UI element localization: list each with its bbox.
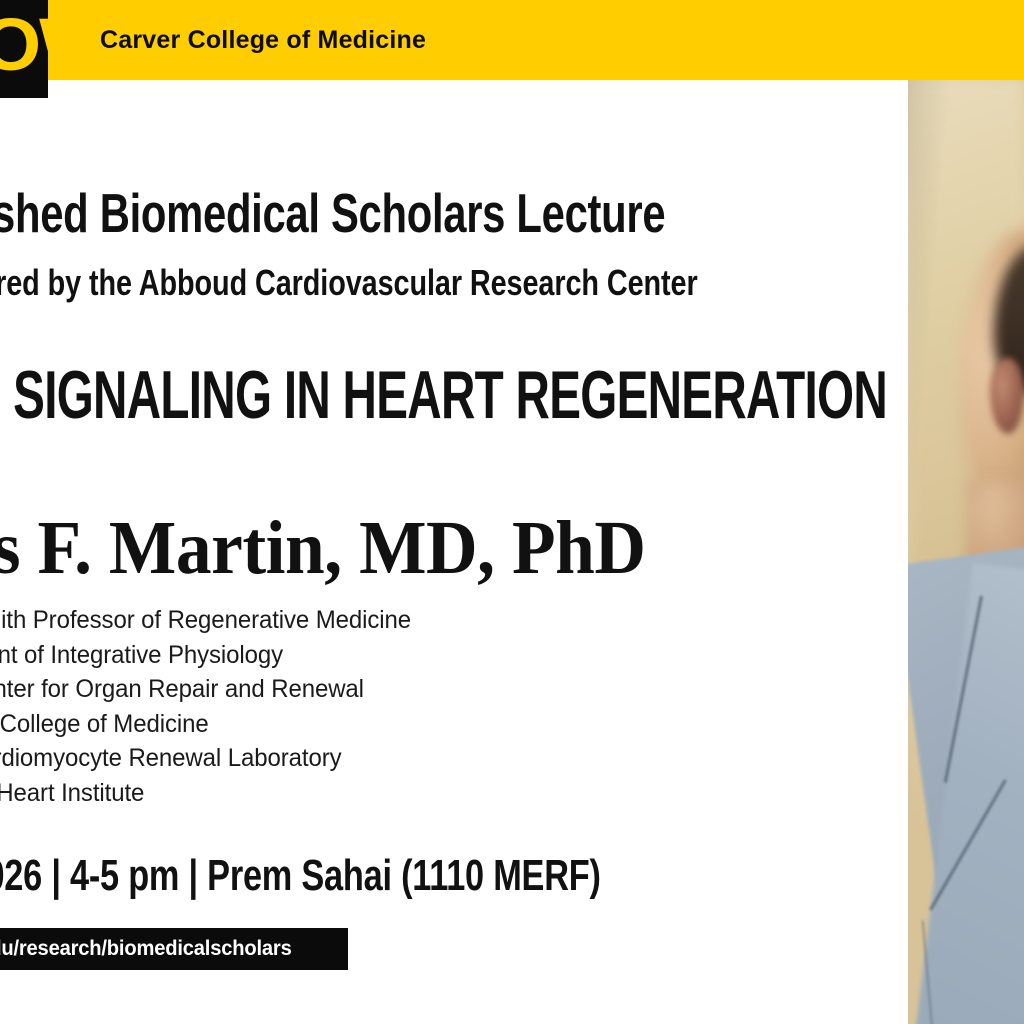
affiliation-line: Director, Center for Organ Repair and Re…	[0, 672, 908, 707]
flyer-page: Carver College of Medicine IOWA Distingu…	[0, 0, 1024, 1024]
affiliation-line: Department of Integrative Physiology	[0, 638, 908, 673]
talk-title: HIPPO SIGNALING IN HEART REGENERATION	[0, 358, 887, 432]
url-badge[interactable]: medicine.uiowa.edu/research/biomedicalsc…	[0, 928, 348, 970]
speaker-photo	[908, 80, 1024, 1024]
affiliation-line: Director, Cardiomyocyte Renewal Laborato…	[0, 741, 908, 776]
speaker-name: James F. Martin, MD, PhD	[0, 504, 645, 592]
affiliation-line: Texas Heart Institute	[0, 776, 908, 811]
url-badge-text: medicine.uiowa.edu/research/biomedicalsc…	[0, 937, 292, 961]
header-bar: Carver College of Medicine	[0, 0, 1024, 80]
event-details: February 12, 2026 | 4-5 pm | Prem Sahai …	[0, 850, 601, 902]
photo-ear	[990, 358, 1024, 434]
flyer-content: Distinguished Biomedical Scholars Lectur…	[0, 80, 908, 1024]
affiliation-line: Baylor College of Medicine	[0, 707, 908, 742]
affiliation-line: Vivian L. Smith Professor of Regenerativ…	[0, 603, 908, 638]
lecture-series-title: Distinguished Biomedical Scholars Lectur…	[0, 183, 665, 243]
speaker-affiliations: Vivian L. Smith Professor of Regenerativ…	[0, 603, 908, 810]
header-title: Carver College of Medicine	[100, 0, 426, 80]
lecture-series-sponsor: Sponsored by the Abboud Cardiovascular R…	[0, 262, 698, 304]
iowa-logo-icon: IOWA	[0, 4, 48, 86]
iowa-logo-block[interactable]: IOWA	[0, 0, 48, 98]
